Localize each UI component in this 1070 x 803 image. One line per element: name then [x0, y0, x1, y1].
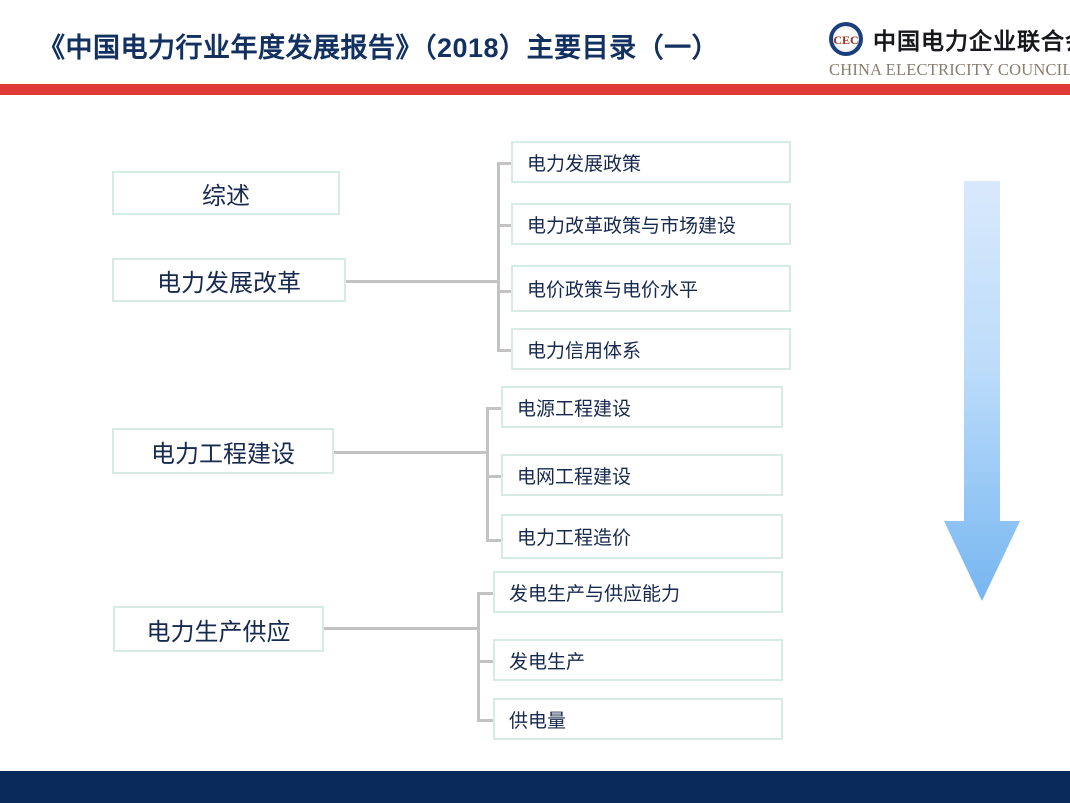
organization-logo: CEC 中国电力企业联合会 CHINA ELECTRICITY COUNCIL: [828, 20, 1064, 78]
toc-diagram: 综述 电力发展改革 电力发展政策 电力改革政策与市场建设 电价政策与电价水平 电…: [0, 95, 1070, 760]
child-node-dianli-xinyong-tixi[interactable]: 电力信用体系: [511, 328, 791, 370]
slide: 《中国电力行业年度发展报告》（2018）主要目录（一） CEC 中国电力企业联合…: [0, 0, 1070, 803]
connector-group3-stub-2: [477, 660, 493, 663]
connector-group3-trunk: [323, 627, 479, 630]
connector-group2-stub-2: [486, 475, 502, 478]
connector-group3-stub-1: [477, 592, 493, 595]
node-label: 电力工程建设: [151, 434, 295, 469]
node-label: 电力发展改革: [157, 263, 301, 298]
logo-english-name: CHINA ELECTRICITY COUNCIL: [829, 60, 1070, 80]
connector-group1-trunk: [345, 280, 500, 283]
cec-emblem-icon: CEC: [828, 21, 864, 57]
header-red-rule: [0, 84, 1070, 95]
node-label: 发电生产: [509, 647, 585, 674]
node-label: 电源工程建设: [517, 394, 631, 421]
logo-chinese-name: 中国电力企业联合会: [873, 22, 1070, 56]
connector-group3-stub-3: [477, 719, 493, 722]
connector-group2-stub-3: [486, 539, 502, 542]
node-label: 综述: [202, 176, 250, 211]
node-label: 发电生产与供应能力: [509, 579, 680, 606]
child-node-dianjia-zhengce[interactable]: 电价政策与电价水平: [511, 265, 791, 312]
parent-node-dianli-shengchan-gongying[interactable]: 电力生产供应: [113, 606, 324, 652]
parent-node-dianli-gongcheng-jianshe[interactable]: 电力工程建设: [112, 428, 334, 474]
child-node-dianli-fazhan-zhengce[interactable]: 电力发展政策: [511, 141, 791, 183]
parent-node-dianli-fazhan-gaige[interactable]: 电力发展改革: [112, 258, 346, 302]
node-label: 电价政策与电价水平: [527, 275, 698, 302]
parent-node-zongshu[interactable]: 综述: [112, 171, 340, 215]
slide-header: 《中国电力行业年度发展报告》（2018）主要目录（一） CEC 中国电力企业联合…: [0, 0, 1070, 82]
child-node-dianwang-gongcheng-jianshe[interactable]: 电网工程建设: [501, 454, 783, 496]
connector-group1-spine: [497, 162, 500, 352]
child-node-fadian-shengchan[interactable]: 发电生产: [493, 639, 783, 681]
node-label: 供电量: [509, 706, 566, 733]
node-label: 电力工程造价: [517, 523, 631, 550]
footer-bar: [0, 771, 1070, 803]
node-label: 电网工程建设: [517, 462, 631, 489]
node-label: 电力生产供应: [147, 612, 291, 647]
page-title: 《中国电力行业年度发展报告》（2018）主要目录（一）: [38, 26, 719, 65]
logo-primary-row: CEC 中国电力企业联合会: [828, 20, 1070, 58]
node-label: 电力发展政策: [527, 149, 641, 176]
child-node-fadian-shengchan-gongying-nengli[interactable]: 发电生产与供应能力: [493, 571, 783, 613]
connector-group2-trunk: [333, 451, 488, 454]
child-node-dianyuan-gongcheng-jianshe[interactable]: 电源工程建设: [501, 386, 783, 428]
svg-text:CEC: CEC: [833, 33, 858, 47]
node-label: 电力信用体系: [527, 336, 641, 363]
child-node-dianli-gongcheng-zaojia[interactable]: 电力工程造价: [501, 514, 783, 559]
node-label: 电力改革政策与市场建设: [527, 211, 736, 238]
down-arrow-icon: [944, 181, 1020, 601]
connector-group2-stub-1: [486, 407, 502, 410]
connector-group3-spine: [477, 592, 480, 722]
child-node-dianli-gaige-zhengce[interactable]: 电力改革政策与市场建设: [511, 203, 791, 245]
child-node-gongdianliang[interactable]: 供电量: [493, 698, 783, 740]
